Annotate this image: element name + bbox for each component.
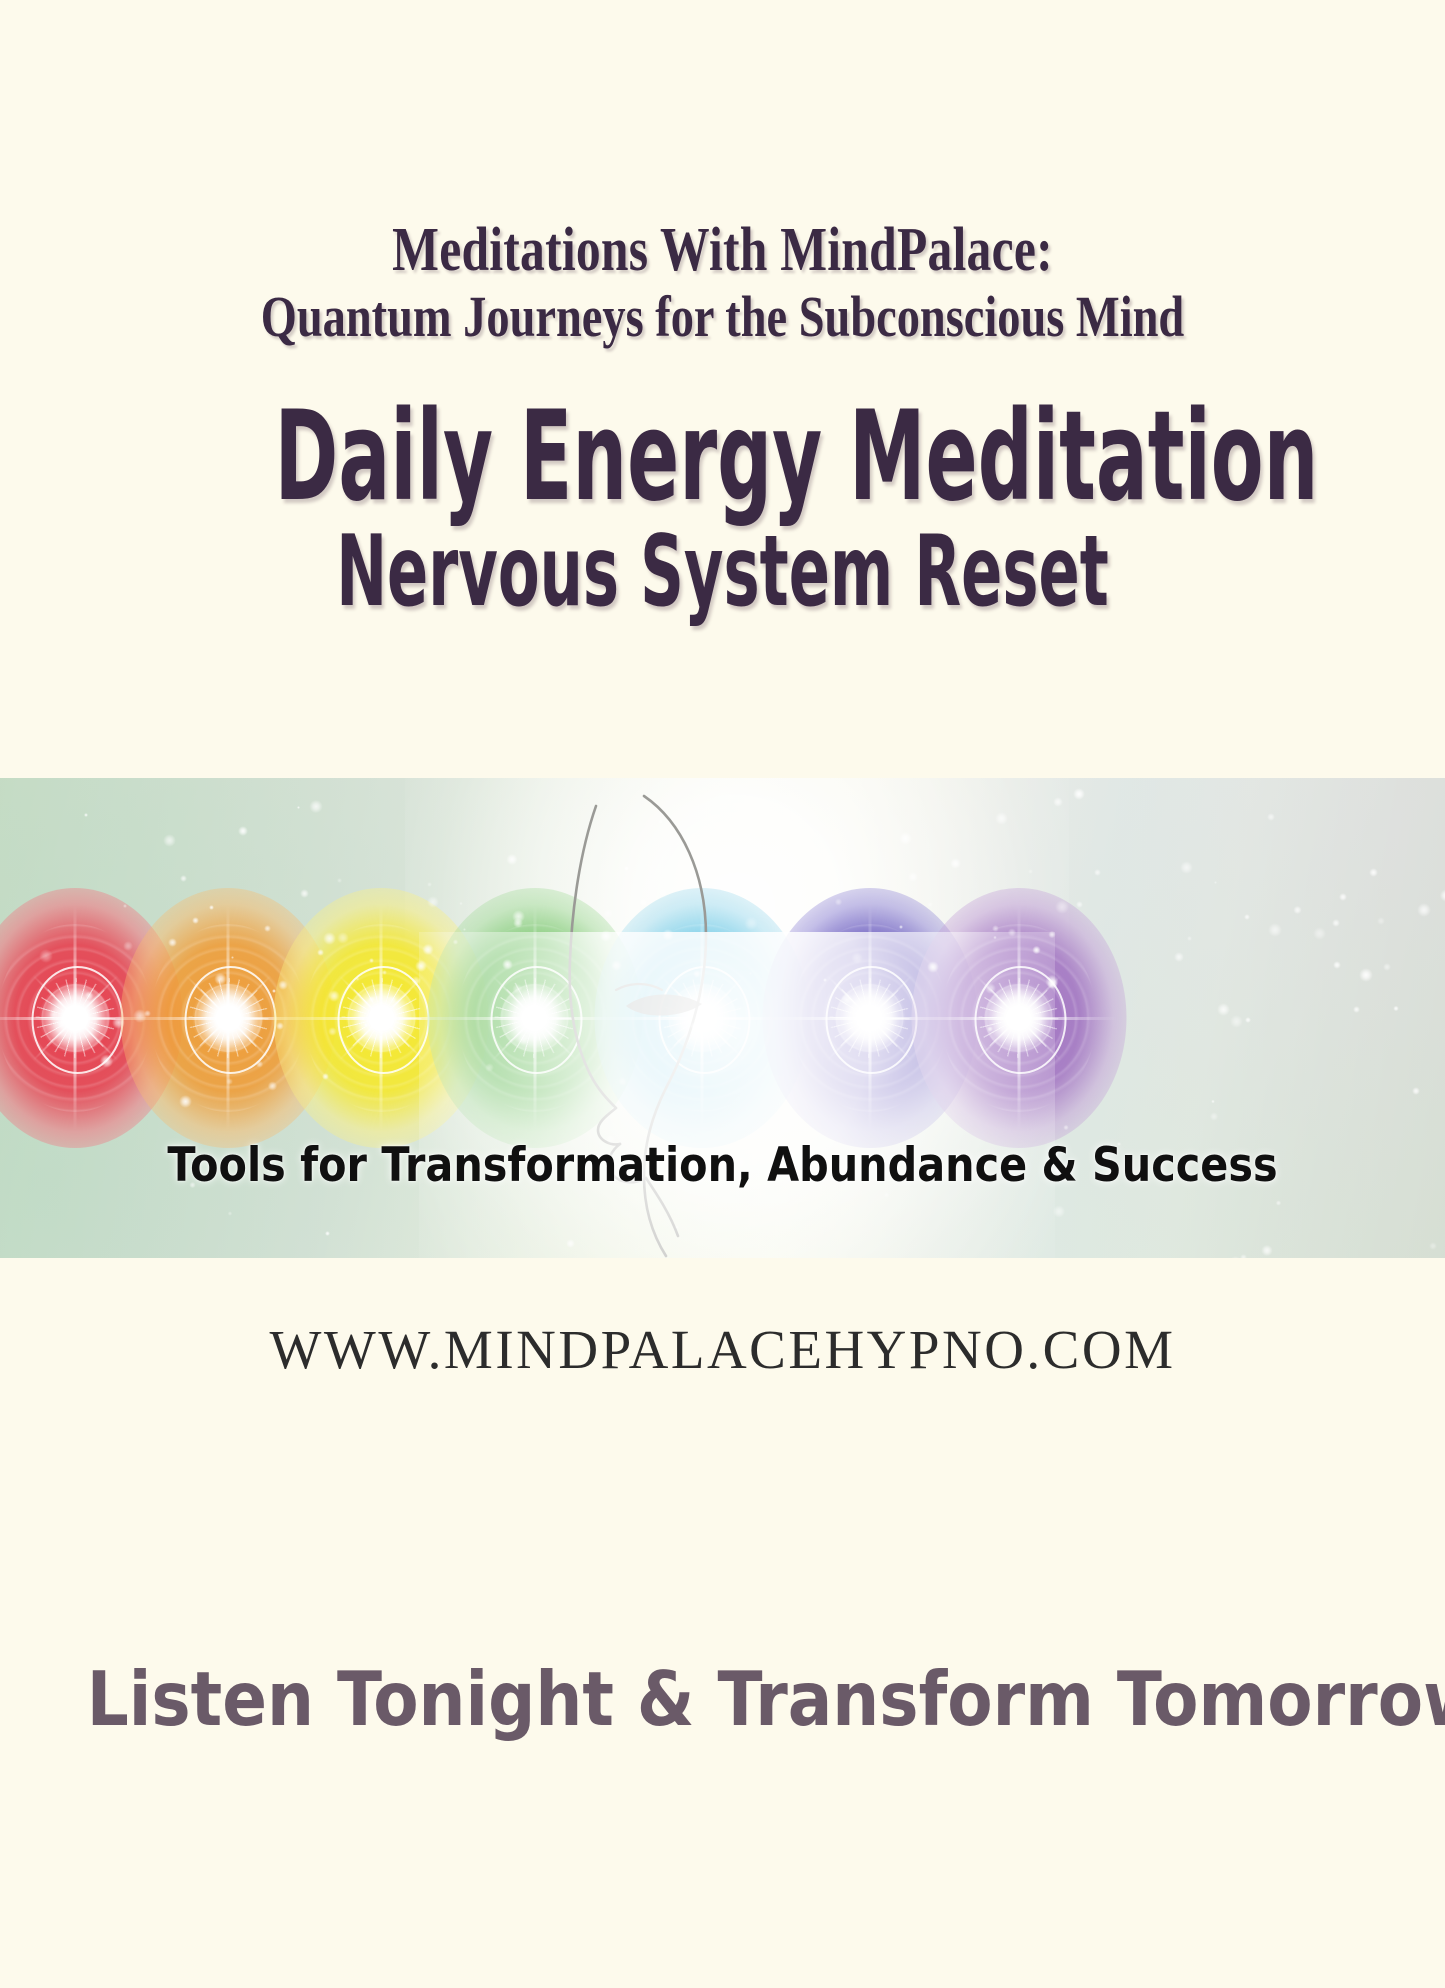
sparkle-dot [1187, 936, 1192, 941]
sparkle-dot [899, 832, 912, 845]
sparkle-dot [1028, 869, 1033, 874]
sparkle-dot [1429, 1242, 1437, 1250]
call-to-action: Listen Tonight & Transform Tomorrow [87, 1655, 1359, 1743]
sparkle-dot [278, 980, 288, 990]
sparkle-dot [1332, 919, 1340, 927]
sparkle-dot [603, 909, 613, 919]
sparkle-dot [226, 1078, 233, 1085]
sparkle-dot [364, 1023, 368, 1027]
orb-glow [762, 888, 977, 1148]
sparkle-dot [1440, 889, 1445, 902]
sparkle-dot [774, 1257, 783, 1258]
sparkle-dot [328, 990, 340, 1002]
sparkle-dot [611, 960, 622, 971]
sparkle-dot [1244, 914, 1249, 919]
orb-swirl [941, 924, 1096, 1111]
sacral-chakra-orb [121, 888, 336, 1148]
sparkle-dot [485, 1063, 494, 1072]
tagline: Tools for Transformation, Abundance & Su… [87, 1138, 1359, 1193]
sparkle-dot [662, 929, 674, 941]
heart-chakra-orb [427, 888, 642, 1148]
sparkle-dot [1032, 946, 1040, 954]
sparkle-dot [850, 1007, 861, 1018]
sparkle-dot [927, 961, 939, 973]
throat-chakra-orb [595, 888, 810, 1148]
orb-swirl [151, 924, 306, 1111]
sparkle-dot [993, 936, 996, 939]
orb-swirl [457, 924, 612, 1111]
sparkle-dot [323, 932, 336, 945]
sparkle-dot [1353, 1006, 1360, 1013]
sparkle-dot [163, 834, 176, 847]
sparkle-dot [1276, 1200, 1282, 1206]
sparkle-dot [179, 1095, 193, 1109]
sparkle-dot [427, 896, 438, 907]
sparkle-dot [382, 970, 387, 975]
sparkle-dot [1293, 906, 1302, 915]
sparkle-dot [985, 983, 996, 994]
sparkle-dot [1214, 881, 1217, 884]
sparkle-dot [1359, 968, 1373, 982]
orb-glow [911, 888, 1126, 1148]
orb-glow [274, 888, 489, 1148]
orb-swirl [625, 924, 780, 1111]
orb-glow [595, 888, 810, 1148]
sparkle-dot [317, 949, 324, 956]
sparkle-dot [1174, 952, 1184, 962]
sparkle-dot [502, 959, 513, 970]
main-title: Daily Energy Meditation [275, 398, 1171, 517]
sparkle-dot [453, 939, 458, 944]
sparkle-dot [463, 928, 466, 931]
sparkle-dot [835, 898, 843, 906]
sparkle-dot [411, 976, 421, 986]
sparkle-dot [749, 972, 752, 975]
sparkle-dot [144, 1010, 151, 1017]
crown-chakra-orb [911, 888, 1126, 1148]
sparkle-dot [133, 1009, 147, 1023]
sparkle-dot [100, 1054, 114, 1068]
sparkle-dot [300, 889, 309, 898]
sparkle-dot [1377, 917, 1385, 925]
sparkle-dot [49, 1010, 57, 1018]
brand-title-line-1: Meditations With MindPalace: [145, 218, 1301, 282]
sparkle-dot [841, 993, 854, 1006]
sparkle-dot [506, 854, 518, 866]
sparkle-dot [1008, 928, 1017, 937]
sparkle-dot [908, 872, 918, 882]
sparkle-dot [995, 812, 1008, 825]
sparkle-dot [1063, 1125, 1068, 1130]
sparkle-dot [618, 1077, 627, 1086]
gown-highlight [419, 932, 1055, 1258]
solar-plexus-chakra-orb [274, 888, 489, 1148]
sparkle-dot [427, 882, 432, 887]
sparkle-dot [123, 941, 133, 951]
sparkle-dot [422, 944, 434, 956]
sparkle-dot [744, 917, 757, 930]
sparkle-dot [658, 819, 663, 824]
sparkle-dot [899, 925, 904, 930]
sparkle-dot [112, 1016, 125, 1029]
orb-glow [121, 888, 336, 1148]
sparkle-dot [39, 949, 53, 963]
orb-swirl [792, 924, 947, 1111]
root-chakra-orb [0, 888, 183, 1148]
sparkle-dot [57, 1018, 68, 1029]
orb-swirl [304, 924, 459, 1111]
sparkle-dot [823, 978, 827, 982]
sparkle-dot [851, 952, 863, 964]
sparkle-dot [512, 984, 523, 995]
sparkle-dot [1417, 903, 1431, 917]
sparkle-dot [1055, 900, 1069, 914]
sparkle-dot [328, 1027, 337, 1036]
sparkle-dot [209, 905, 215, 911]
sparkle-dot [415, 960, 427, 972]
sparkle-dot [1094, 869, 1101, 876]
sparkle-dot [192, 917, 199, 924]
sparkle-dot [337, 878, 342, 883]
sparkle-dot [1180, 861, 1193, 874]
sparkle-dot [231, 956, 234, 959]
sparkle-dot [1313, 927, 1326, 940]
sparkle-dot [639, 898, 648, 907]
sparkle-dot [1333, 961, 1341, 969]
page-title: Daily Energy Meditation Nervous System R… [0, 398, 1445, 621]
sparkle-dot [693, 970, 701, 978]
sparkle-dot [566, 1239, 575, 1248]
sparkle-dot [690, 1022, 699, 1031]
sparkle-dot [992, 925, 1000, 933]
sparkle-dot [1073, 788, 1085, 800]
sparkle-dot [1240, 1254, 1247, 1258]
sparkle-dot [1393, 1006, 1398, 1011]
sparkle-dot [513, 918, 523, 928]
sparkle-dot [1053, 797, 1063, 807]
sparkle-dot [1053, 1205, 1066, 1218]
sparkle-dot [1230, 1256, 1241, 1258]
sparkle-dot [1230, 1015, 1243, 1028]
sparkle-dot [268, 1081, 278, 1091]
sparkle-dot [600, 930, 612, 942]
sparkle-dot [1045, 975, 1058, 988]
sparkle-dot [1267, 813, 1275, 821]
sparkle-dot [272, 989, 276, 993]
sparkle-dot [214, 973, 226, 985]
sparkle-dot [85, 991, 94, 1000]
sparkle-dot [387, 995, 397, 1005]
orb-glow [427, 888, 642, 1148]
sparkle-dot [1268, 923, 1282, 937]
sparkle-dot [356, 977, 359, 980]
sparkle-dot [1261, 1245, 1273, 1257]
sparkle-dot [369, 958, 374, 963]
sparkle-dot [523, 1013, 531, 1021]
orb-swirl [0, 924, 153, 1111]
sparkle-dot [927, 902, 932, 907]
sparkle-dot [256, 1060, 263, 1067]
sparkle-dot [84, 813, 88, 817]
sparkle-dot [325, 1231, 329, 1235]
sparkle-dot [337, 932, 349, 944]
sparkle-dot [1369, 868, 1378, 877]
sparkle-dot [1217, 1003, 1230, 1016]
sparkle-dot [657, 887, 668, 898]
sparkle-dot [238, 826, 248, 836]
sparkle-dot [1211, 1100, 1215, 1104]
sparkle-dot [1383, 963, 1391, 971]
sparkle-dot [624, 866, 629, 871]
sparkle-dot [180, 875, 187, 882]
sparkle-dot [1412, 1087, 1420, 1095]
sparkle-dot [987, 1026, 993, 1032]
sparkle-dot [675, 1225, 679, 1229]
sparkle-dot [1210, 1112, 1219, 1121]
sparkle-dot [322, 1073, 329, 1080]
sparkle-dot [1047, 979, 1058, 990]
sparkle-dot [1076, 901, 1084, 909]
sparkle-dot [123, 904, 127, 908]
sparkle-dot [459, 902, 462, 905]
sparkle-dot [264, 925, 271, 932]
sparkle-dot [518, 1034, 529, 1045]
brand-title-line-2: Quantum Journeys for the Subconscious Mi… [145, 286, 1301, 347]
sparkle-dot [1245, 1017, 1251, 1023]
website-url[interactable]: WWW.MINDPALACEHYPNO.COM [0, 1318, 1445, 1381]
orb-glow [0, 888, 183, 1148]
sparkle-dot [168, 938, 177, 947]
meditation-album-cover: Meditations With MindPalace: Quantum Jou… [0, 0, 1445, 1988]
sparkle-dot [368, 996, 375, 1003]
sparkle-dot [950, 858, 961, 869]
sparkle-dot [1339, 893, 1347, 901]
sparkle-dot [309, 800, 322, 813]
sparkle-dot [276, 1022, 284, 1030]
sparkle-dot [228, 1211, 232, 1215]
sparkle-dot [297, 806, 300, 809]
sparkle-dot [512, 910, 525, 923]
sub-title: Nervous System Reset [275, 523, 1171, 621]
brand-header: Meditations With MindPalace: Quantum Jou… [0, 218, 1445, 348]
third-eye-chakra-orb [762, 888, 977, 1148]
sparkle-dot [1048, 931, 1056, 939]
